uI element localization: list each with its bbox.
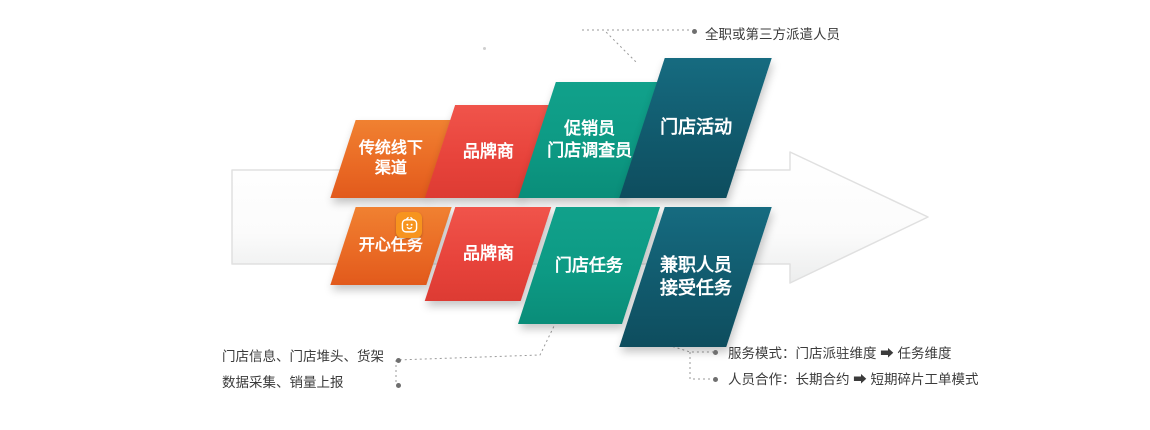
callout-bottom-left-line-1: 门店信息、门店堆头、货架 (222, 344, 384, 370)
callout-bottom-left-line-2: 数据采集、销量上报 (222, 370, 384, 396)
tile-top-2-label: 品牌商 (463, 141, 514, 163)
tile-bottom-2-label: 品牌商 (463, 243, 514, 265)
tile-bottom-4-label: 兼职人员 接受任务 (660, 254, 732, 300)
callout-dot-top (692, 29, 697, 34)
callout-dot-bottom-right-1 (713, 350, 718, 355)
tile-top-3-label: 促销员 门店调查员 (547, 118, 632, 162)
tile-bottom-3-label: 门店任务 (555, 255, 623, 277)
callout-dot-bottom-left-1 (396, 358, 401, 363)
callout-bottom-right-line-2: 人员合作：长期合约 ➡ 短期碎片工单模式 (728, 367, 979, 393)
tile-top-4-label: 门店活动 (660, 116, 732, 139)
callout-bottom-right: 服务模式：门店派驻维度 ➡ 任务维度 人员合作：长期合约 ➡ 短期碎片工单模式 (728, 341, 979, 392)
callout-bottom-left: 门店信息、门店堆头、货架 数据采集、销量上报 (222, 344, 384, 395)
callout-dot-bottom-left-2 (396, 383, 401, 388)
app-logo-icon (396, 212, 422, 238)
tile-top-1-label: 传统线下 渠道 (359, 139, 423, 180)
callout-top: 全职或第三方派遣人员 (705, 22, 840, 48)
callout-bottom-right-line-1: 服务模式：门店派驻维度 ➡ 任务维度 (728, 341, 979, 367)
decorative-speck (483, 47, 486, 50)
diagram-canvas: 传统线下 渠道 品牌商 促销员 门店调查员 门店活动 开心任务 品牌商 门店任务… (0, 0, 1150, 430)
smiley-face-icon (401, 217, 418, 234)
callout-dot-bottom-right-2 (713, 377, 718, 382)
callout-top-line-1: 全职或第三方派遣人员 (705, 22, 840, 48)
tile-bottom-1-label: 开心任务 (359, 236, 423, 256)
